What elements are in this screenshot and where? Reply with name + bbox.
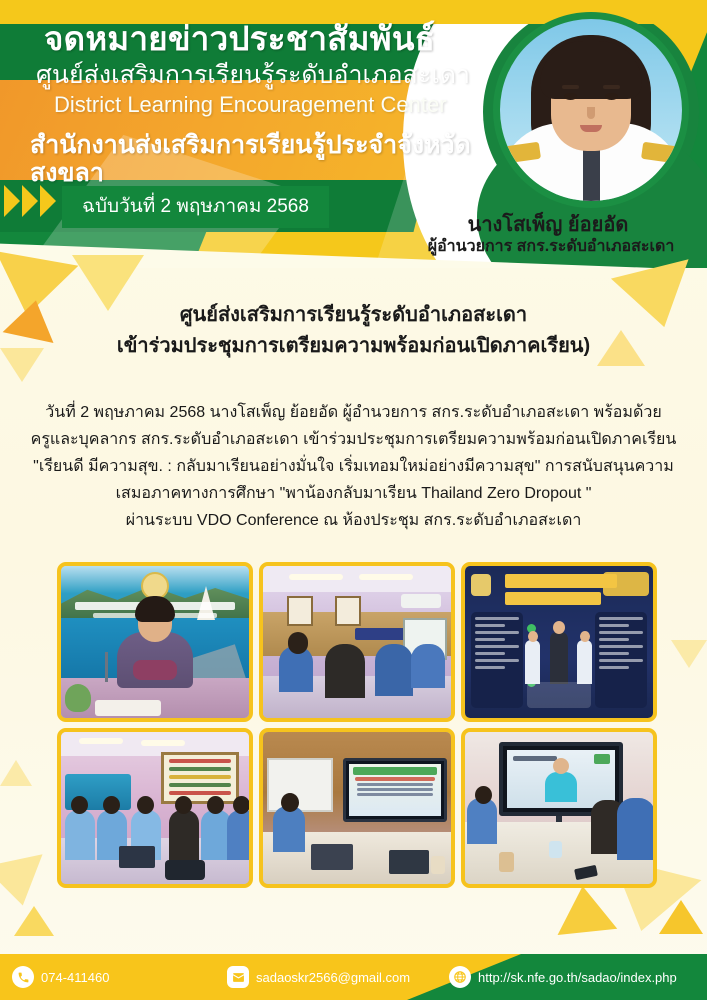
photo-4-participant: [65, 810, 95, 860]
photo-3-text-line: [475, 652, 505, 655]
globe-icon: [449, 966, 471, 988]
photo-6-cup: [549, 841, 562, 858]
photo-3-text-line: [475, 638, 505, 641]
decorative-triangle: [553, 883, 617, 935]
photo-4-participant-head: [207, 796, 224, 814]
photo-2-wall-frame: [335, 596, 361, 626]
gallery-photo: [57, 562, 253, 722]
photo-3-text-line: [475, 624, 505, 627]
photo-3-text-line: [599, 652, 629, 655]
article-headline: ศูนย์ส่งเสริมการเรียนรู้ระดับอำเภอสะเดา …: [0, 300, 707, 362]
photo-2-ceiling-light: [289, 574, 343, 580]
director-role: ผู้อำนวยการ สกร.ระดับอำเภอสะเดา: [401, 234, 701, 259]
photo-5-laptop: [389, 850, 429, 874]
body-line-1: วันที่ 2 พฤษภาคม 2568 นางโสเพ็ญ ย้อยอัด …: [24, 400, 683, 427]
photo-1-person-scarf: [133, 660, 177, 680]
photo-4-board-line: [169, 783, 231, 787]
portrait-necktie: [583, 145, 600, 201]
body-line-3: "เรียนดี มีความสุข. : กลับมาเรียนอย่างมั…: [24, 454, 683, 481]
portrait-eyebrow-left: [562, 85, 579, 89]
photo-3-emblem: [471, 574, 491, 596]
photo-1-documents: [95, 700, 161, 716]
photo-5-slide-header: [353, 767, 437, 775]
decorative-triangle: [0, 760, 32, 786]
portrait-mouth: [580, 125, 602, 132]
photo-5-participant-head: [281, 793, 299, 812]
photo-5-content: [263, 732, 451, 884]
photo-2-wall-frame: [287, 596, 313, 626]
header-subtitle-thai: ศูนย์ส่งเสริมการเรียนรู้ระดับอำเภอสะเดา: [36, 62, 486, 90]
chevron-right-icon: [4, 185, 20, 217]
photo-3-text-line: [599, 617, 643, 620]
photo-4-participant-row: [61, 800, 249, 860]
decorative-triangle: [14, 906, 54, 936]
photo-2-content: [263, 566, 451, 718]
photo-6-remote-speaker: [545, 772, 577, 802]
photo-3-text-line: [475, 617, 519, 620]
photo-3-slide-title: [505, 574, 617, 608]
photo-3-content: [465, 566, 653, 718]
poster-top-edge: [0, 0, 707, 6]
photo-3-caption-bar: [527, 682, 591, 708]
photo-3-student-right-head: [580, 631, 590, 642]
photo-3-student-left: [525, 640, 540, 684]
photo-4-participant: [169, 810, 199, 860]
photo-4-ceiling-light: [79, 738, 123, 744]
photo-5-slide-line: [357, 788, 433, 791]
photo-5-display-screen: [343, 758, 447, 822]
photo-3-student-right: [577, 640, 592, 684]
footer-email-address: sadaoskr2566@gmail.com: [256, 970, 410, 985]
photo-5-laptop: [311, 844, 353, 870]
photo-3-text-line: [475, 659, 519, 662]
photo-5-slide-line: [357, 783, 433, 786]
photo-2-air-conditioner: [401, 594, 441, 608]
photo-3-text-line: [599, 624, 629, 627]
issue-date-badge: ฉบับวันที่ 2 พฤษภาคม 2568: [62, 186, 329, 228]
contact-footer: 074-411460 sadaoskr2566@gmail.com: [0, 954, 707, 1000]
gallery-photo: [259, 728, 455, 888]
photo-4-participant-head: [175, 796, 192, 814]
body-line-4: เสมอภาคทางการศึกษา "พาน้องกลับมาเรียน Th…: [24, 481, 683, 508]
photo-3-title-line: [505, 574, 617, 588]
decorative-triangle: [659, 900, 703, 934]
headline-line-1: ศูนย์ส่งเสริมการเรียนรู้ระดับอำเภอสะเดา: [0, 300, 707, 331]
photo-1-content: [61, 566, 249, 718]
photo-6-participant: [617, 798, 653, 860]
photo-4-bag: [165, 860, 205, 880]
footer-website-item[interactable]: http://sk.nfe.go.th/sadao/index.php: [449, 966, 695, 988]
photo-3-title-line: [505, 592, 601, 605]
photo-1-microphone: [105, 652, 108, 682]
photo-6-cup: [499, 852, 514, 872]
photo-5-cup: [431, 856, 445, 874]
article-body: วันที่ 2 พฤษภาคม 2568 นางโสเพ็ญ ย้อยอัด …: [0, 400, 707, 534]
photo-4-content: [61, 732, 249, 884]
portrait-eye-left: [564, 93, 577, 100]
photo-2-participant: [325, 644, 365, 698]
photo-3-text-line: [475, 645, 519, 648]
chevron-right-icon: [22, 185, 38, 217]
footer-phone-number: 074-411460: [41, 970, 109, 985]
photo-3-teacher-head: [553, 621, 565, 634]
photo-6-screen-content: [507, 750, 615, 808]
header-subtitle-english: District Learning Encouragement Center: [54, 93, 494, 117]
photo-6-content: [465, 732, 653, 884]
gallery-photo: [461, 562, 657, 722]
photo-3-text-line: [599, 645, 643, 648]
photo-5-participant: [273, 806, 305, 852]
photo-2-participant: [375, 644, 413, 696]
photo-3-text-line: [599, 659, 643, 662]
footer-website-url: http://sk.nfe.go.th/sadao/index.php: [478, 970, 677, 985]
photo-5-whiteboard: [267, 758, 333, 812]
photo-3-text-line: [599, 638, 629, 641]
photo-4-board-line: [169, 775, 231, 779]
director-portrait-frame: [493, 12, 689, 208]
chevron-right-icon: [40, 185, 56, 217]
newsletter-poster: จดหมายข่าวประชาสัมพันธ์ ศูนย์ส่งเสริมการ…: [0, 0, 707, 1000]
portrait-eyebrow-right: [603, 85, 620, 89]
photo-4-participant-head: [233, 796, 249, 814]
gallery-photo: [57, 728, 253, 888]
envelope-icon: [227, 966, 249, 988]
footer-contact-list: 074-411460 sadaoskr2566@gmail.com: [0, 954, 707, 1000]
director-portrait: [500, 19, 682, 201]
photo-3-right-column: [595, 612, 647, 708]
photo-4-participant-head: [103, 796, 120, 814]
portrait-nose: [587, 107, 595, 119]
footer-phone-item[interactable]: 074-411460: [12, 966, 227, 988]
photo-3-teacher: [550, 632, 568, 684]
chevron-arrows-icon: [4, 185, 56, 217]
photo-6-screen-logo: [594, 754, 610, 764]
photo-3-student-left-head: [528, 631, 538, 642]
photo-2-participant: [411, 644, 445, 688]
photo-6-participant-head: [475, 786, 492, 804]
header-office-line: สำนักงานส่งเสริมการเรียนรู้ประจำจังหวัดส…: [30, 132, 510, 187]
gallery-photo: [461, 728, 657, 888]
photo-3-text-line: [599, 666, 629, 669]
photo-2-participant-head: [288, 632, 308, 654]
newsletter-title: จดหมายข่าวประชาสัมพันธ์: [44, 22, 464, 57]
photo-5-slide-line: [355, 777, 435, 781]
phone-icon: [12, 966, 34, 988]
photo-4-board-line: [169, 767, 231, 771]
photo-5-screen-content: [349, 764, 441, 816]
photo-4-board-line: [169, 759, 231, 763]
photo-3-text-line: [475, 666, 505, 669]
photo-3-left-column: [471, 612, 523, 708]
photo-5-slide-line: [357, 793, 433, 796]
portrait-eye-right: [605, 93, 618, 100]
footer-email-item[interactable]: sadaoskr2566@gmail.com: [227, 966, 449, 988]
body-line-2: ครูและบุคลากร สกร.ระดับอำเภอสะเดา เข้าร่…: [24, 427, 683, 454]
photo-gallery: [57, 562, 651, 888]
photo-4-participant: [227, 810, 249, 860]
photo-3-text-line: [599, 631, 643, 634]
headline-line-2: เข้าร่วมประชุมการเตรียมความพร้อมก่อนเปิด…: [0, 331, 707, 362]
body-line-5: ผ่านระบบ VDO Conference ณ ห้องประชุม สกร…: [24, 508, 683, 535]
gallery-photo: [259, 562, 455, 722]
photo-4-participant-head: [71, 796, 88, 814]
photo-3-text-line: [475, 631, 519, 634]
photo-4-notice-board: [161, 752, 239, 804]
photo-6-screen-caption: [513, 756, 557, 761]
photo-4-laptop: [119, 846, 155, 868]
photo-6-participant: [467, 798, 497, 844]
photo-4-participant-head: [137, 796, 154, 814]
photo-1-plant: [65, 684, 91, 712]
photo-6-remote-speaker-head: [553, 758, 569, 774]
photo-4-board-line: [169, 791, 231, 795]
decorative-triangle: [671, 640, 707, 668]
